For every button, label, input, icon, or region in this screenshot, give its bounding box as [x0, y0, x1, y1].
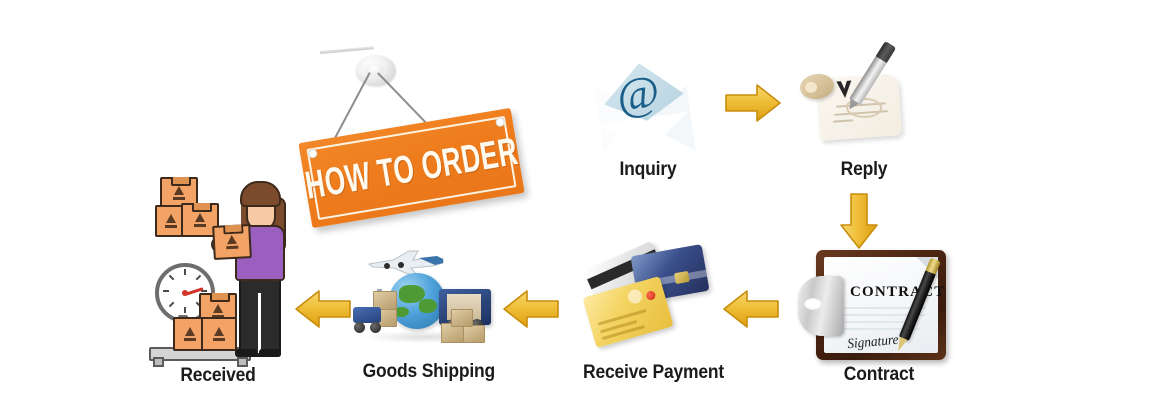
globe-land [419, 299, 437, 313]
at-symbol-icon: @ [614, 68, 662, 119]
box-fragile-mark [195, 213, 205, 222]
box-fragile-mark [226, 246, 238, 249]
paper-rule [842, 321, 912, 323]
box-fragile-mark [213, 304, 223, 313]
box-fragile-mark [166, 214, 176, 223]
cargo-box [451, 309, 473, 327]
airplane-icon [363, 247, 449, 275]
arrow-inquiry-to-reply [724, 82, 782, 124]
scale-tick [184, 269, 186, 275]
woman-shoe [259, 349, 281, 357]
forklift-icon [349, 293, 397, 333]
scale-tick [201, 290, 207, 292]
box-flap [171, 177, 191, 186]
inquiry-icon: @ [585, 55, 707, 155]
step-label-received: Received [172, 365, 264, 387]
sign-eyelet-right [495, 117, 505, 127]
held-cardboard-box [212, 224, 252, 260]
clipboard-clip [798, 276, 844, 336]
scale-tick [196, 275, 202, 281]
box-fragile-mark [227, 235, 237, 245]
globe-icon [389, 273, 445, 329]
box-fragile-mark [185, 327, 195, 336]
woman-hair-top [240, 181, 281, 207]
contract-icon: CONTRACT Signature [806, 250, 951, 362]
sign-eyelet-left [308, 148, 318, 158]
step-label-receive-payment: Receive Payment [583, 362, 721, 384]
box-flap [223, 224, 243, 234]
woman-shoe [235, 349, 257, 357]
sign-board: HOW TO ORDER [298, 108, 524, 228]
arrow-contract-to-payment [722, 288, 780, 330]
scale-foot [153, 357, 164, 367]
box-fragile-mark [173, 197, 185, 200]
arrow-shipping-to-received [294, 288, 352, 330]
forklift-wheel [370, 322, 381, 333]
reply-icon [800, 52, 920, 152]
box-fragile-mark [214, 327, 224, 336]
sign-hook-icon [356, 55, 396, 86]
forklift-wheel [354, 322, 365, 333]
signature-text: Signature [847, 333, 899, 353]
box-fragile-mark [194, 224, 206, 227]
box-fragile-mark [165, 225, 177, 228]
how-to-order-sign: HOW TO ORDER [300, 40, 540, 240]
received-icon [155, 175, 295, 360]
box-fragile-mark [213, 338, 225, 341]
card-logo [626, 288, 643, 305]
how-to-order-infographic: HOW TO ORDER @ Inquiry [0, 0, 1151, 414]
step-label-inquiry: Inquiry [600, 159, 696, 181]
globe-land [395, 307, 409, 317]
card-chip [674, 271, 690, 284]
arrow-payment-to-shipping [502, 288, 560, 330]
contract-title: CONTRACT [850, 284, 945, 301]
sign-rod [320, 46, 374, 54]
scale-tick [169, 302, 175, 308]
scale-tick [169, 275, 175, 281]
step-label-contract: Contract [834, 364, 924, 386]
scale-tick [184, 307, 186, 313]
goods-shipping-icon [345, 245, 510, 355]
arrow-reply-to-contract [838, 192, 880, 250]
scale-needle-hub [182, 290, 188, 296]
receive-payment-icon [588, 248, 698, 348]
box-fragile-mark [174, 186, 184, 195]
step-label-reply: Reply [824, 159, 905, 181]
scale-tick [163, 290, 169, 292]
box-fragile-mark [184, 338, 196, 341]
woman-legs [239, 275, 281, 357]
forklift-body [353, 307, 381, 323]
card-logo-dot [645, 290, 656, 301]
step-label-goods-shipping: Goods Shipping [363, 361, 492, 383]
cargo-box [463, 325, 485, 343]
box-flap [192, 203, 212, 212]
woman-figure [227, 183, 293, 353]
